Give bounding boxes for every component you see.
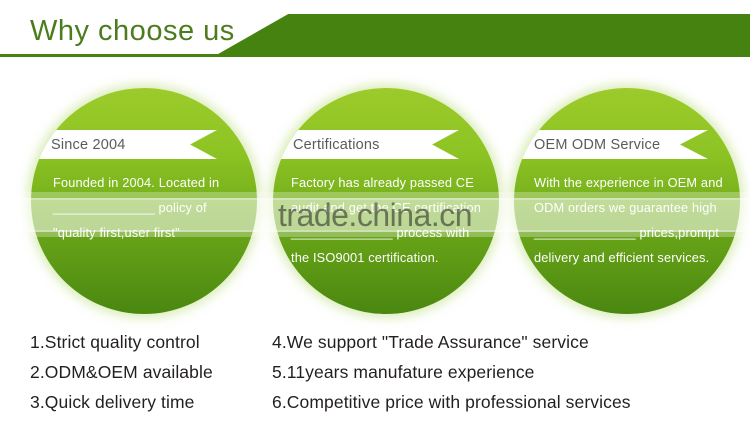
page-title: Why choose us <box>30 11 235 51</box>
circle-ribbon-label: Since 2004 <box>31 137 126 153</box>
list-item: 5.11years manufature experience <box>272 357 631 387</box>
feature-list-right: 4.We support "Trade Assurance" service 5… <box>272 327 631 417</box>
circle-body-text: Factory has already passed CE audit and … <box>291 170 487 270</box>
feature-circle-oem-odm-service: OEM ODM Service With the experience in O… <box>514 88 740 314</box>
list-item: 6.Competitive price with professional se… <box>272 387 631 417</box>
page-header: Why choose us <box>0 0 750 72</box>
feature-list-left: 1.Strict quality control 2.ODM&OEM avail… <box>30 327 213 417</box>
circle-body-text: Founded in 2004. Located in ____________… <box>53 170 243 245</box>
circle-ribbon: Certifications <box>273 130 459 159</box>
circle-ribbon-label: Certifications <box>273 137 380 153</box>
list-item: 4.We support "Trade Assurance" service <box>272 327 631 357</box>
feature-circle-certifications: Certifications Factory has already passe… <box>273 88 499 314</box>
circle-body-text: With the experience in OEM and ODM order… <box>534 170 728 270</box>
circle-ribbon-label: OEM ODM Service <box>514 137 660 153</box>
circle-ribbon: Since 2004 <box>31 130 217 159</box>
feature-circles-row: Since 2004 Founded in 2004. Located in _… <box>0 86 750 318</box>
circle-ribbon: OEM ODM Service <box>514 130 708 159</box>
list-item: 3.Quick delivery time <box>30 387 213 417</box>
feature-circle-since-2004: Since 2004 Founded in 2004. Located in _… <box>31 88 257 314</box>
list-item: 2.ODM&OEM available <box>30 357 213 387</box>
list-item: 1.Strict quality control <box>30 327 213 357</box>
header-underline <box>0 54 750 57</box>
